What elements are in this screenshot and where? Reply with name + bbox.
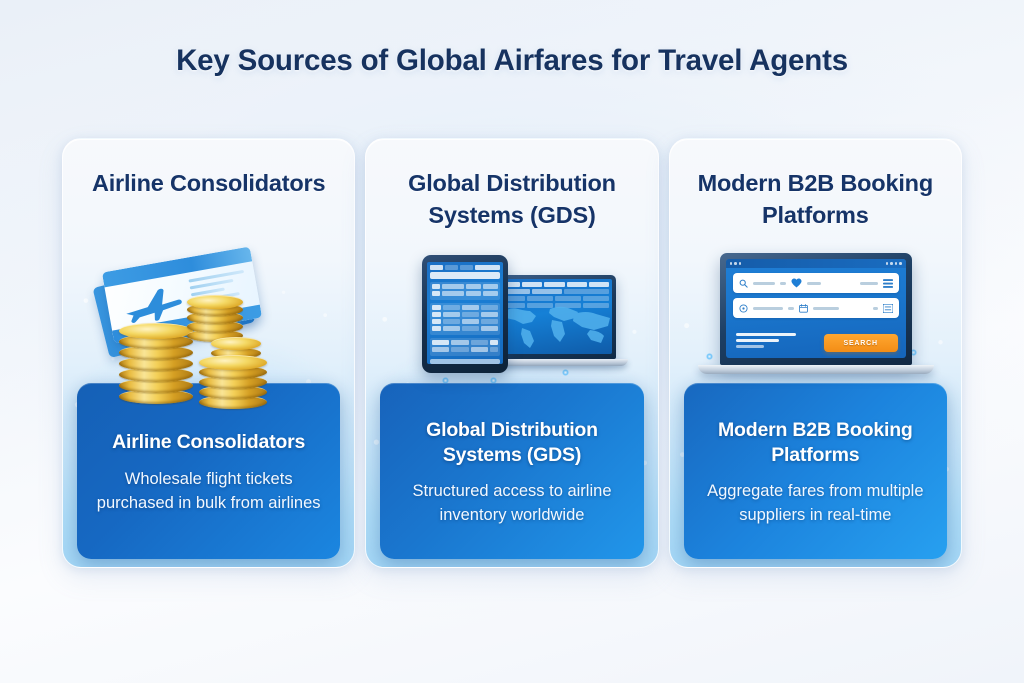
card-heading: Global Distribution Systems (GDS) (378, 167, 645, 231)
card-heading: Airline Consolidators (75, 167, 342, 199)
card-heading: Modern B2B Booking Platforms (682, 167, 949, 231)
laptop-booking-icon: SEARCH (720, 253, 912, 374)
result-summary-lines (736, 333, 796, 351)
window-dots-icon (730, 262, 742, 265)
search-button[interactable]: SEARCH (824, 334, 898, 352)
card-modern-b2b-booking-platforms[interactable]: Modern B2B Booking Platforms (669, 138, 962, 568)
heart-icon (791, 278, 802, 288)
cards-row: Airline Consolidators (62, 138, 962, 568)
laptop-gds-dashboard-icon (492, 275, 616, 366)
glow-dot (562, 369, 569, 376)
page-title: Key Sources of Global Airfares for Trave… (0, 44, 1024, 78)
location-icon (739, 304, 748, 313)
panel-description: Aggregate fares from multiple suppliers … (700, 480, 931, 528)
infographic-stage: Key Sources of Global Airfares for Trave… (0, 0, 1024, 683)
menu-icon[interactable] (883, 279, 893, 288)
laptop-base (698, 365, 934, 374)
panel-description: Wholesale flight tickets purchased in bu… (93, 468, 324, 516)
callout-panel: Modern B2B Booking Platforms Aggregate f… (684, 383, 947, 559)
browser-chrome-bar (726, 259, 906, 268)
coin-stack-front (199, 355, 267, 411)
panel-title: Modern B2B Booking Platforms (700, 418, 931, 469)
card-global-distribution-systems[interactable]: Global Distribution Systems (GDS) (365, 138, 658, 568)
tablet-gds-table-icon (422, 255, 508, 373)
world-map-icon (496, 300, 612, 352)
callout-panel: Global Distribution Systems (GDS) Struct… (380, 383, 643, 559)
calendar-icon (799, 304, 808, 313)
card-airline-consolidators[interactable]: Airline Consolidators (62, 138, 355, 568)
search-field-row-1[interactable] (733, 273, 899, 293)
list-icon[interactable] (883, 304, 893, 313)
status-icons (886, 262, 902, 265)
coin-stack-large (119, 323, 193, 405)
panel-description: Structured access to airline inventory w… (396, 480, 627, 528)
glow-dot (706, 353, 713, 360)
panel-title: Airline Consolidators (93, 430, 324, 455)
search-field-row-2[interactable] (733, 298, 899, 318)
search-icon (739, 279, 748, 288)
panel-title: Global Distribution Systems (GDS) (396, 418, 627, 469)
